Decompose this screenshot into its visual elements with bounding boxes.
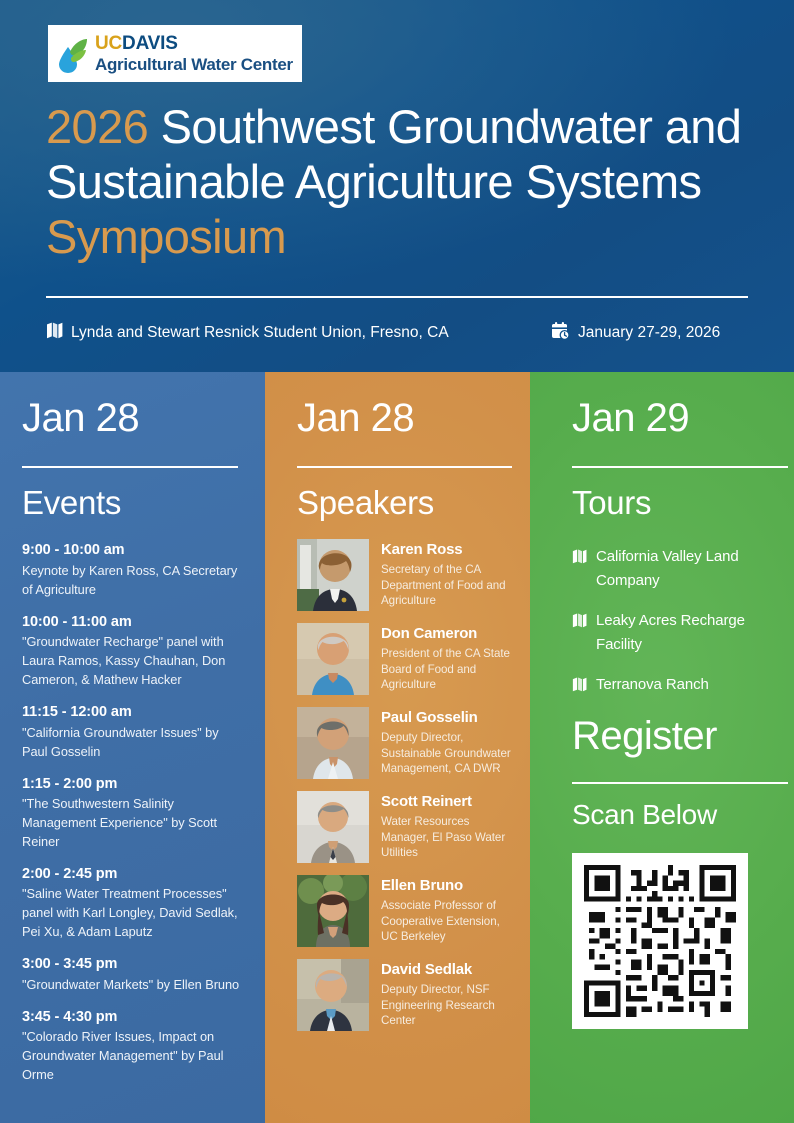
- list-item: Scott Reinert Water Resources Manager, E…: [297, 791, 516, 863]
- map-icon: [572, 676, 587, 698]
- list-item: 3:00 - 3:45 pm "Groundwater Markets" by …: [22, 955, 243, 995]
- speakers-heading: Speakers: [297, 485, 516, 521]
- logo-uc-text: UC: [95, 33, 122, 54]
- tour-label: Terranova Ranch: [596, 673, 709, 697]
- events-column: Jan 28 Events 9:00 - 10:00 am Keynote by…: [0, 372, 265, 1123]
- avatar: [297, 791, 369, 863]
- event-time: 11:15 - 12:00 am: [22, 703, 243, 723]
- water-drop-leaf-icon: [55, 32, 89, 76]
- events-heading: Events: [22, 485, 243, 521]
- uc-davis-logo: UCDAVIS Agricultural Water Center: [48, 25, 302, 82]
- map-icon: [46, 321, 63, 345]
- list-item: California Valley Land Company: [572, 545, 778, 593]
- list-item: 2:00 - 2:45 pm "Saline Water Treatment P…: [22, 865, 243, 942]
- event-description: "Colorado River Issues, Impact on Ground…: [22, 1028, 243, 1085]
- list-item: Terranova Ranch: [572, 673, 778, 698]
- speaker-role: Associate Professor of Cooperative Exten…: [381, 898, 516, 945]
- register-subtitle: Scan Below: [572, 800, 778, 831]
- speakers-column: Jan 28 Speakers Karen Ross Secretary of …: [265, 372, 530, 1123]
- speakers-list: Karen Ross Secretary of the CA Departmen…: [297, 539, 516, 1031]
- speaker-name: David Sedlak: [381, 961, 516, 979]
- event-description: "Groundwater Markets" by Ellen Bruno: [22, 976, 243, 995]
- avatar: [297, 707, 369, 779]
- avatar: [297, 959, 369, 1031]
- symposium-poster: UCDAVIS Agricultural Water Center 2026 S…: [0, 0, 794, 1123]
- list-item: Leaky Acres Recharge Facility: [572, 609, 778, 657]
- event-time: 3:45 - 4:30 pm: [22, 1008, 243, 1028]
- speaker-role: President of the CA State Board of Food …: [381, 646, 516, 693]
- date-item: January 27-29, 2026: [551, 321, 720, 345]
- event-description: "Groundwater Recharge" panel with Laura …: [22, 633, 243, 690]
- event-time: 3:00 - 3:45 pm: [22, 955, 243, 975]
- events-day-label: Jan 28: [22, 372, 243, 440]
- list-item: Ellen Bruno Associate Professor of Coope…: [297, 875, 516, 947]
- tours-column: Jan 29 Tours California Valley Land Comp…: [530, 372, 794, 1123]
- tours-list: California Valley Land Company Leaky Acr…: [572, 545, 778, 698]
- speaker-name: Ellen Bruno: [381, 877, 516, 895]
- qr-code[interactable]: [572, 853, 748, 1029]
- tours-divider: [572, 466, 788, 468]
- speaker-role: Water Resources Manager, El Paso Water U…: [381, 814, 516, 861]
- avatar: [297, 875, 369, 947]
- register-title: Register: [572, 714, 778, 758]
- title-accent: Symposium: [46, 210, 286, 263]
- list-item: 3:45 - 4:30 pm "Colorado River Issues, I…: [22, 1008, 243, 1085]
- speaker-name: Don Cameron: [381, 625, 516, 643]
- event-time: 9:00 - 10:00 am: [22, 541, 243, 561]
- avatar: [297, 539, 369, 611]
- title-main: Southwest Groundwater and Sustainable Ag…: [46, 100, 741, 208]
- page-title: 2026 Southwest Groundwater and Sustainab…: [46, 100, 746, 265]
- list-item: Don Cameron President of the CA State Bo…: [297, 623, 516, 695]
- list-item: 9:00 - 10:00 am Keynote by Karen Ross, C…: [22, 541, 243, 599]
- register-divider: [572, 782, 788, 784]
- event-meta: Lynda and Stewart Resnick Student Union,…: [46, 318, 748, 348]
- calendar-clock-icon: [551, 321, 570, 345]
- list-item: 10:00 - 11:00 am "Groundwater Recharge" …: [22, 613, 243, 690]
- event-time: 1:15 - 2:00 pm: [22, 775, 243, 795]
- event-description: "The Southwestern Salinity Management Ex…: [22, 795, 243, 852]
- venue-item: Lynda and Stewart Resnick Student Union,…: [46, 321, 551, 345]
- speaker-name: Scott Reinert: [381, 793, 516, 811]
- map-icon: [572, 548, 587, 570]
- event-time: 2:00 - 2:45 pm: [22, 865, 243, 885]
- tours-heading: Tours: [572, 485, 778, 521]
- logo-wordmark: UCDAVIS Agricultural Water Center: [95, 34, 293, 73]
- event-description: "California Groundwater Issues" by Paul …: [22, 724, 243, 762]
- date-text: January 27-29, 2026: [578, 324, 720, 342]
- list-item: 11:15 - 12:00 am "California Groundwater…: [22, 703, 243, 761]
- speakers-divider: [297, 466, 512, 468]
- events-divider: [22, 466, 238, 468]
- list-item: David Sedlak Deputy Director, NSF Engine…: [297, 959, 516, 1031]
- list-item: 1:15 - 2:00 pm "The Southwestern Salinit…: [22, 775, 243, 852]
- tours-day-label: Jan 29: [572, 372, 778, 440]
- event-description: "Saline Water Treatment Processes" panel…: [22, 885, 243, 942]
- title-year: 2026: [46, 100, 148, 153]
- events-list: 9:00 - 10:00 am Keynote by Karen Ross, C…: [22, 541, 243, 1085]
- list-item: Paul Gosselin Deputy Director, Sustainab…: [297, 707, 516, 779]
- list-item: Karen Ross Secretary of the CA Departmen…: [297, 539, 516, 611]
- tour-label: California Valley Land Company: [596, 545, 778, 593]
- venue-text: Lynda and Stewart Resnick Student Union,…: [71, 324, 449, 342]
- event-description: Keynote by Karen Ross, CA Secretary of A…: [22, 562, 243, 600]
- event-time: 10:00 - 11:00 am: [22, 613, 243, 633]
- register-section: Register Scan Below: [572, 714, 778, 1029]
- avatar: [297, 623, 369, 695]
- map-icon: [572, 612, 587, 634]
- speaker-name: Paul Gosselin: [381, 709, 516, 727]
- logo-davis-text: DAVIS: [122, 33, 178, 54]
- poster-header: UCDAVIS Agricultural Water Center 2026 S…: [0, 0, 794, 372]
- speaker-role: Deputy Director, NSF Engineering Researc…: [381, 982, 516, 1029]
- speaker-role: Secretary of the CA Department of Food a…: [381, 562, 516, 609]
- speakers-day-label: Jan 28: [297, 372, 516, 440]
- tour-label: Leaky Acres Recharge Facility: [596, 609, 778, 657]
- speaker-role: Deputy Director, Sustainable Groundwater…: [381, 730, 516, 777]
- logo-subtitle: Agricultural Water Center: [95, 56, 293, 73]
- speaker-name: Karen Ross: [381, 541, 516, 559]
- header-divider: [46, 296, 748, 298]
